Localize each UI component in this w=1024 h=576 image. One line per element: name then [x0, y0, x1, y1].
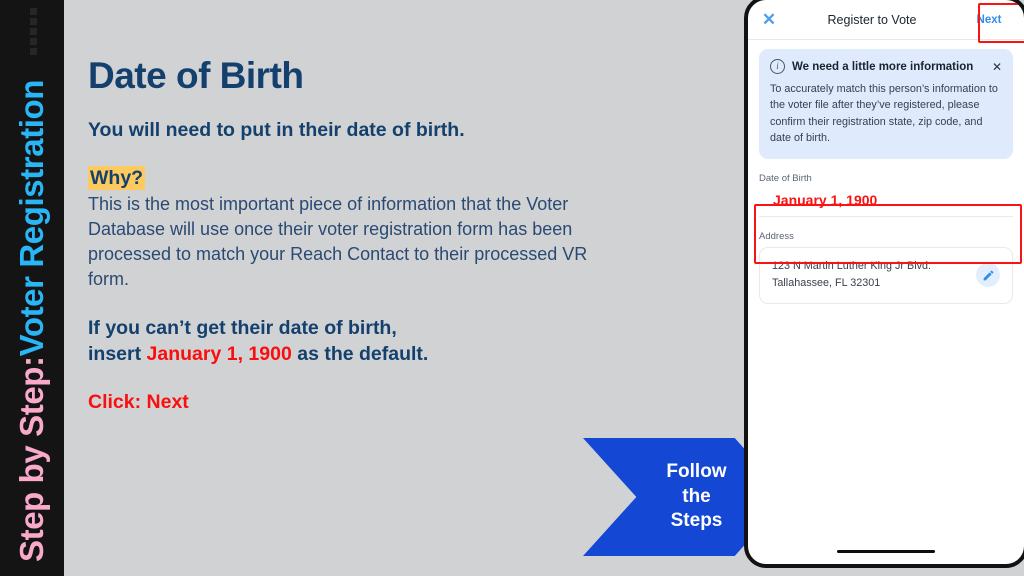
sidebar-title: Step by Step: Voter Registration: [0, 0, 64, 576]
fallback-line2-pre: insert: [88, 343, 147, 365]
fallback-line2-post: as the default.: [292, 343, 429, 365]
explanation-paragraph: This is the most important piece of info…: [88, 192, 598, 291]
info-banner: i We need a little more information ✕ To…: [759, 49, 1013, 159]
info-banner-title: We need a little more information: [792, 61, 981, 73]
arrow-line-2: the: [682, 485, 711, 510]
home-indicator: [837, 550, 935, 553]
sidebar-title-step: Step by Step:: [13, 356, 51, 562]
next-button[interactable]: Next: [977, 14, 1002, 26]
arrow-line-1: Follow: [666, 460, 726, 485]
sidebar-title-topic: Voter Registration: [13, 80, 51, 356]
address-value: 123 N Martin Luther King Jr Blvd. Tallah…: [772, 258, 968, 293]
fallback-instruction: If you can’t get their date of birth, in…: [88, 316, 628, 367]
phone-header: ✕ Register to Vote Next: [748, 0, 1024, 40]
phone-screen-title: Register to Vote: [782, 13, 962, 27]
slide-root: Step by Step: Voter Registration Date of…: [0, 0, 1024, 576]
info-banner-text: To accurately match this person’s inform…: [770, 81, 1002, 147]
close-icon[interactable]: ✕: [756, 7, 782, 33]
phone-body: i We need a little more information ✕ To…: [748, 40, 1024, 304]
info-banner-close-icon[interactable]: ✕: [988, 61, 1002, 73]
dob-field-value[interactable]: January 1, 1900: [759, 187, 1013, 217]
fallback-default-date: January 1, 1900: [147, 343, 292, 365]
info-banner-header: i We need a little more information ✕: [770, 59, 1002, 74]
info-icon: i: [770, 59, 785, 74]
phone-mockup: ✕ Register to Vote Next i We need a litt…: [744, 0, 1024, 568]
fallback-line1: If you can’t get their date of birth,: [88, 317, 397, 339]
page-title: Date of Birth: [88, 56, 628, 97]
click-next-callout: Click: Next: [88, 391, 628, 414]
slide-content: Date of Birth You will need to put in th…: [88, 56, 628, 414]
edit-address-button[interactable]: [976, 263, 1000, 287]
next-button-wrap[interactable]: Next: [962, 14, 1016, 26]
why-highlight-label: Why?: [88, 166, 145, 190]
dob-field-label: Date of Birth: [759, 173, 1013, 184]
address-field-label: Address: [759, 231, 1013, 242]
dob-field[interactable]: Date of Birth January 1, 1900: [759, 173, 1013, 217]
lead-instruction: You will need to put in their date of bi…: [88, 119, 628, 142]
address-field: Address 123 N Martin Luther King Jr Blvd…: [759, 231, 1013, 304]
address-line-2: Tallahassee, FL 32301: [772, 275, 968, 292]
address-card[interactable]: 123 N Martin Luther King Jr Blvd. Tallah…: [759, 247, 1013, 304]
vertical-sidebar: Step by Step: Voter Registration: [0, 0, 64, 576]
arrow-line-3: Steps: [671, 509, 723, 534]
address-line-1: 123 N Martin Luther King Jr Blvd.: [772, 258, 968, 275]
pencil-icon: [982, 269, 995, 282]
